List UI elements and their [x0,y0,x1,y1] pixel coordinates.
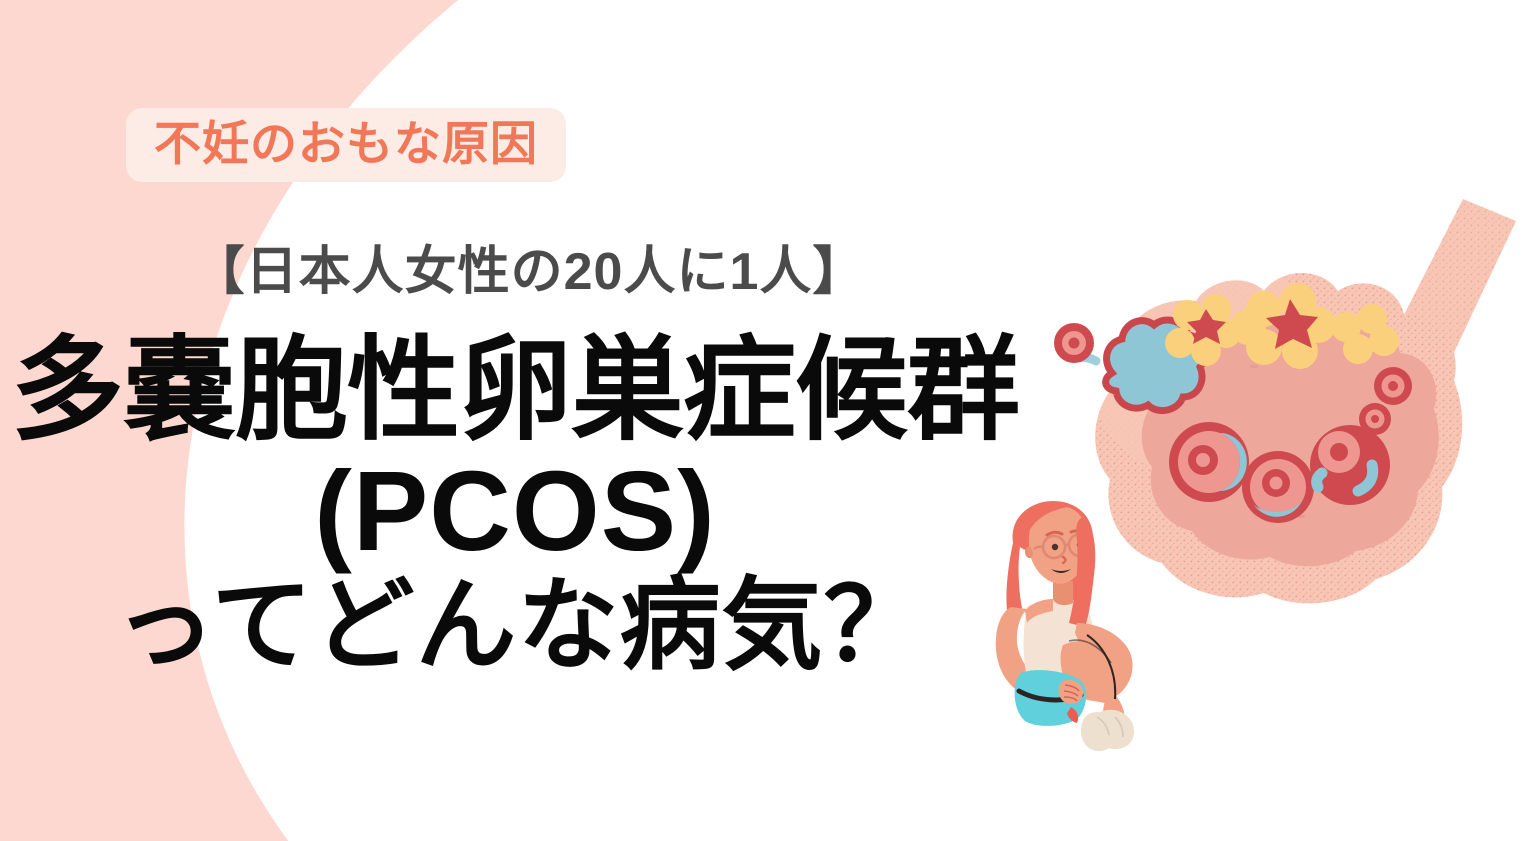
category-badge: 不妊のおもな原因 [126,108,566,182]
ovary-small-follicle-right-top [1374,367,1412,405]
neck [1053,581,1073,605]
headline-block: 【日本人女性の20人に1人】 多嚢胞性卵巣症候群 (PCOS) ってどんな病気？ [0,240,1030,683]
headline-subtitle: 【日本人女性の20人に1人】 [0,240,1030,305]
headline-title-line-2: (PCOS) [0,448,1030,575]
ovary-follicle-bottom-right [1310,425,1390,505]
ovary-small-follicle-left [1054,323,1094,363]
eye-left [1052,544,1058,550]
ovary-follicle-bottom-left [1169,422,1249,502]
headline-title-line-3: ってどんな病気？ [0,570,1030,683]
poster-canvas: 不妊のおもな原因 【日本人女性の20人に1人】 多嚢胞性卵巣症候群 (PCOS)… [0,0,1536,841]
headline-title-line-1: 多嚢胞性卵巣症候群 [0,327,1030,454]
ovary-follicle-bottom-center [1242,451,1314,523]
